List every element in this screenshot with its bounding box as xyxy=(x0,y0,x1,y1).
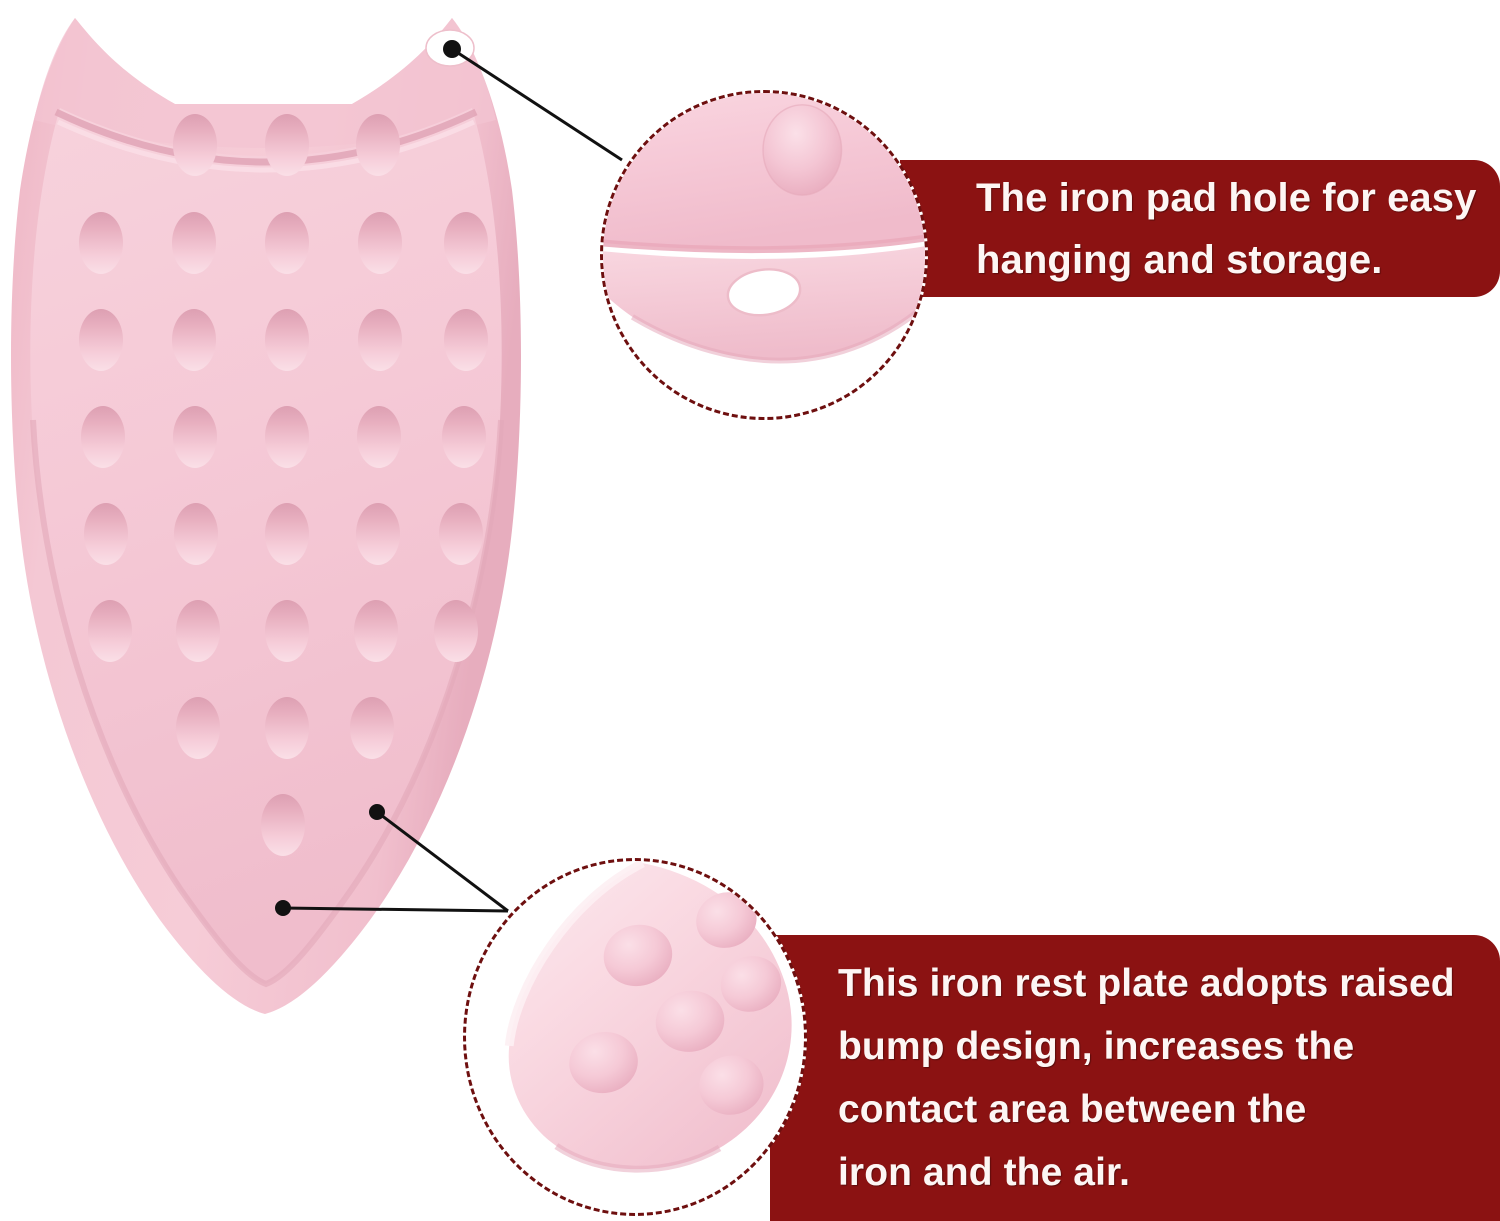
callout-line: This iron rest plate adopts raised xyxy=(838,952,1500,1015)
callout-box-raised-bump-design: This iron rest plate adopts raised bump … xyxy=(770,935,1500,1221)
callout-box-iron-pad-hole: The iron pad hole for easy hanging and s… xyxy=(900,160,1500,297)
callout-line: contact area between the xyxy=(838,1078,1500,1141)
infographic-canvas: The iron pad hole for easy hanging and s… xyxy=(0,0,1500,1221)
callout-line: iron and the air. xyxy=(838,1141,1500,1204)
callout-line: bump design, increases the xyxy=(838,1015,1500,1078)
detail-circle-raised-bumps xyxy=(463,858,807,1216)
detail-circle-hanging-hole xyxy=(600,90,928,420)
detail-top-artwork xyxy=(603,93,925,417)
detail-bottom-artwork xyxy=(466,861,804,1213)
callout-line: hanging and storage. xyxy=(976,229,1500,291)
hanging-hole xyxy=(426,30,474,66)
callout-line: The iron pad hole for easy xyxy=(976,167,1500,229)
